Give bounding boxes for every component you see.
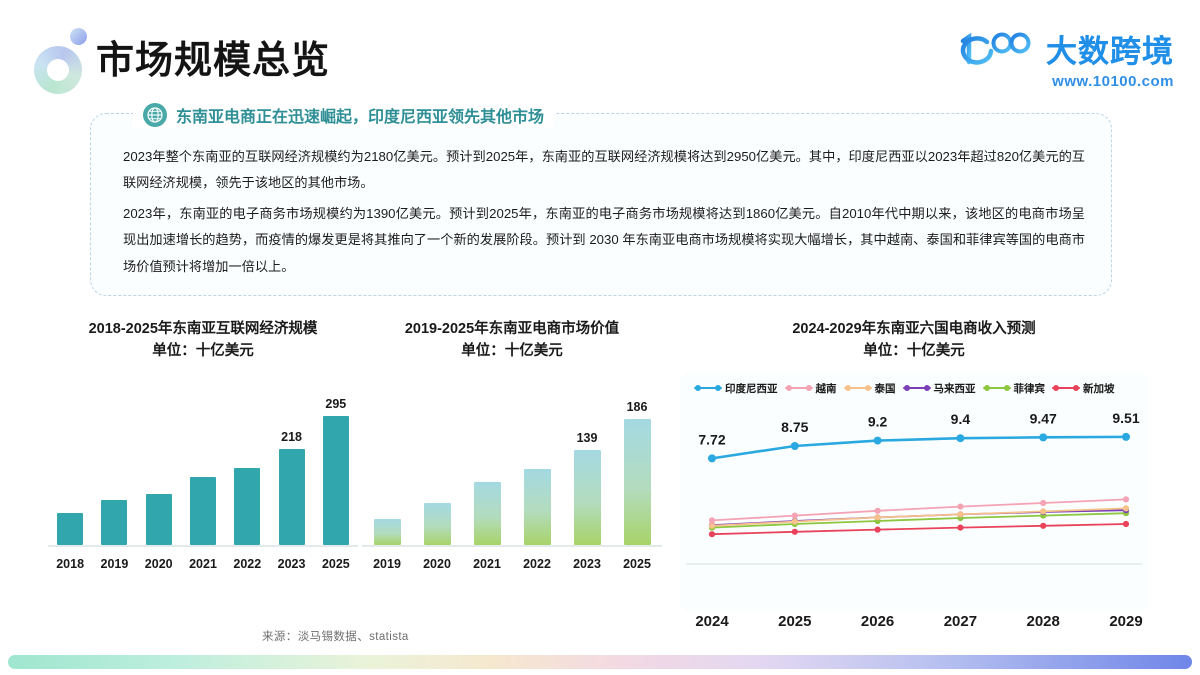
bar-2020 [146,494,172,545]
point-印度尼西亚-2024 [708,454,716,462]
callout-paragraph-2: 2023年，东南亚的电子商务市场规模约为1390亿美元。预计到2025年，东南亚… [123,201,1085,280]
bar-rect-2018 [57,513,83,545]
logo-website-url: www.10100.com [955,73,1174,90]
chart-2-subtitle: 单位：十亿美元 [362,340,662,362]
point-越南-2025 [792,512,798,518]
chart-1-subtitle: 单位：十亿美元 [48,340,358,362]
bar-rect-2025 [323,416,349,545]
bar-2023: 139 [574,431,601,545]
chart-six-country-forecast: 2024-2029年东南亚六国电商收入预测 单位：十亿美元 印度尼西亚越南泰国马… [680,318,1148,641]
bar-rect-2023 [574,450,601,545]
data-label-2029: 9.51 [1112,410,1139,426]
x-tick-2021: 2021 [189,557,217,571]
x-tick-2027: 2027 [944,613,977,630]
point-越南-2028 [1040,500,1046,506]
chart-3-title: 2024-2029年东南亚六国电商收入预测 [792,321,1035,337]
data-label-2028: 9.47 [1030,410,1057,426]
x-tick-2025: 2025 [778,613,811,630]
bar-2020 [424,503,451,545]
bar-rect-2025 [624,419,651,545]
data-label-2024: 7.72 [698,431,725,447]
x-tick-2020: 2020 [145,557,173,571]
bar-2021 [474,482,501,545]
x-tick-2019: 2019 [101,557,129,571]
x-tick-2023: 2023 [278,557,306,571]
x-tick-2022: 2022 [233,557,261,571]
point-新加坡-2025 [792,529,798,535]
point-越南-2029 [1123,496,1129,502]
point-越南-2026 [875,508,881,514]
data-label-2025: 8.75 [781,419,808,435]
bar-value-label-2023: 139 [577,431,598,445]
callout-title: 东南亚电商正在迅速崛起，印度尼西亚领先其他市场 [176,103,544,127]
chart-1-bars: 218295 [48,377,358,547]
point-新加坡-2027 [957,524,963,530]
brand-ring-icon [34,46,82,94]
source-note: 来源：淡马锡数据、statista [262,628,409,644]
bar-2019 [101,500,127,545]
page-title: 市场规模总览 [96,29,330,84]
chart-2-baseline [362,545,662,547]
bar-rect-2022 [234,468,260,545]
point-泰国-2029 [1123,505,1129,511]
bar-2018 [57,513,83,545]
bar-value-label-2025: 186 [627,400,648,414]
chart-2-bars: 139186 [362,377,662,547]
chart-1-plot: 218295 2018201920202021202220232025 [48,377,358,579]
x-tick-2019: 2019 [373,557,401,571]
point-泰国-2026 [875,514,881,520]
bar-value-label-2025: 295 [325,397,346,411]
bar-2021 [190,477,216,545]
bar-rect-2019 [101,500,127,545]
data-label-2026: 9.2 [868,414,888,430]
point-新加坡-2028 [1040,523,1046,529]
point-新加坡-2026 [875,526,881,532]
chart-3-subtitle: 单位：十亿美元 [680,340,1148,362]
brand-logo-mark [30,28,94,90]
chart-3-x-axis: 202420252026202720282029 [680,613,1148,641]
callout-paragraph-1: 2023年整个东南亚的互联网经济规模约为2180亿美元。预计到2025年，东南亚… [123,144,1085,197]
point-印度尼西亚-2029 [1122,433,1130,441]
x-tick-2021: 2021 [473,557,501,571]
x-tick-2026: 2026 [861,613,894,630]
charts-region: 2018-2025年东南亚互联网经济规模 单位：十亿美元 218295 2018… [0,318,1200,618]
company-logo: 大数跨境 www.10100.com [955,26,1174,90]
globe-icon [143,103,167,127]
bar-rect-2022 [524,469,551,545]
bar-2022 [524,469,551,545]
chart-2-plot: 139186 201920202021202220232025 [362,377,662,579]
bar-2025: 186 [624,400,651,545]
page-header: 市场规模总览 大数跨境 www.10100.com [0,0,1200,100]
bar-value-label-2023: 218 [281,430,302,444]
x-tick-2029: 2029 [1109,613,1142,630]
chart-1-x-axis: 2018201920202021202220232025 [48,553,358,579]
chart-2-x-axis: 201920202021202220232025 [362,553,662,579]
bar-rect-2023 [279,449,305,545]
chart-internet-economy: 2018-2025年东南亚互联网经济规模 单位：十亿美元 218295 2018… [48,318,358,579]
callout-body: 2023年整个东南亚的互联网经济规模约为2180亿美元。预计到2025年，东南亚… [123,144,1085,280]
chart-ecommerce-value: 2019-2025年东南亚电商市场价值 单位：十亿美元 139186 20192… [362,318,662,579]
point-印度尼西亚-2026 [874,437,882,445]
chart-2-title-block: 2019-2025年东南亚电商市场价值 单位：十亿美元 [362,318,662,363]
chart-1-baseline [48,545,358,547]
bar-rect-2020 [424,503,451,545]
point-泰国-2027 [957,511,963,517]
logo-company-name: 大数跨境 [1046,26,1174,71]
bar-rect-2019 [374,519,401,545]
point-越南-2024 [709,517,715,523]
chart-1-title: 2018-2025年东南亚互联网经济规模 [89,321,318,337]
x-tick-2023: 2023 [573,557,601,571]
bar-rect-2020 [146,494,172,545]
x-tick-2020: 2020 [423,557,451,571]
x-tick-2025: 2025 [623,557,651,571]
point-印度尼西亚-2028 [1039,433,1047,441]
point-新加坡-2024 [709,531,715,537]
point-泰国-2025 [792,518,798,524]
footer-gradient-bar [8,655,1192,669]
chart-3-title-block: 2024-2029年东南亚六国电商收入预测 单位：十亿美元 [680,318,1148,363]
x-tick-2025: 2025 [322,557,350,571]
x-tick-2018: 2018 [56,557,84,571]
chart-2-title: 2019-2025年东南亚电商市场价值 [405,321,619,337]
brand-dot-icon [70,28,87,45]
x-tick-2028: 2028 [1027,613,1060,630]
chart-1-title-block: 2018-2025年东南亚互联网经济规模 单位：十亿美元 [48,318,358,363]
bar-rect-2021 [190,477,216,545]
bar-2022 [234,468,260,545]
point-新加坡-2029 [1123,521,1129,527]
point-泰国-2028 [1040,508,1046,514]
x-tick-2022: 2022 [523,557,551,571]
bar-2025: 295 [323,397,349,545]
x-tick-2024: 2024 [695,613,728,630]
chart-3-plot: 印度尼西亚越南泰国马来西亚菲律宾新加坡 7.728.759.29.49.479.… [680,373,1148,611]
bar-2023: 218 [279,430,305,545]
line-印度尼西亚 [712,437,1126,458]
bar-2019 [374,519,401,545]
point-印度尼西亚-2025 [791,442,799,450]
callout-header: 东南亚电商正在迅速崛起，印度尼西亚领先其他市场 [133,102,554,128]
logo-10100-icon [955,31,1039,67]
point-越南-2027 [957,503,963,509]
chart-3-lines: 7.728.759.29.49.479.51 [680,373,1148,581]
point-印度尼西亚-2027 [956,434,964,442]
point-泰国-2024 [709,523,715,529]
bar-rect-2021 [474,482,501,545]
data-label-2027: 9.4 [951,411,971,427]
summary-callout: 东南亚电商正在迅速崛起，印度尼西亚领先其他市场 2023年整个东南亚的互联网经济… [90,113,1112,296]
